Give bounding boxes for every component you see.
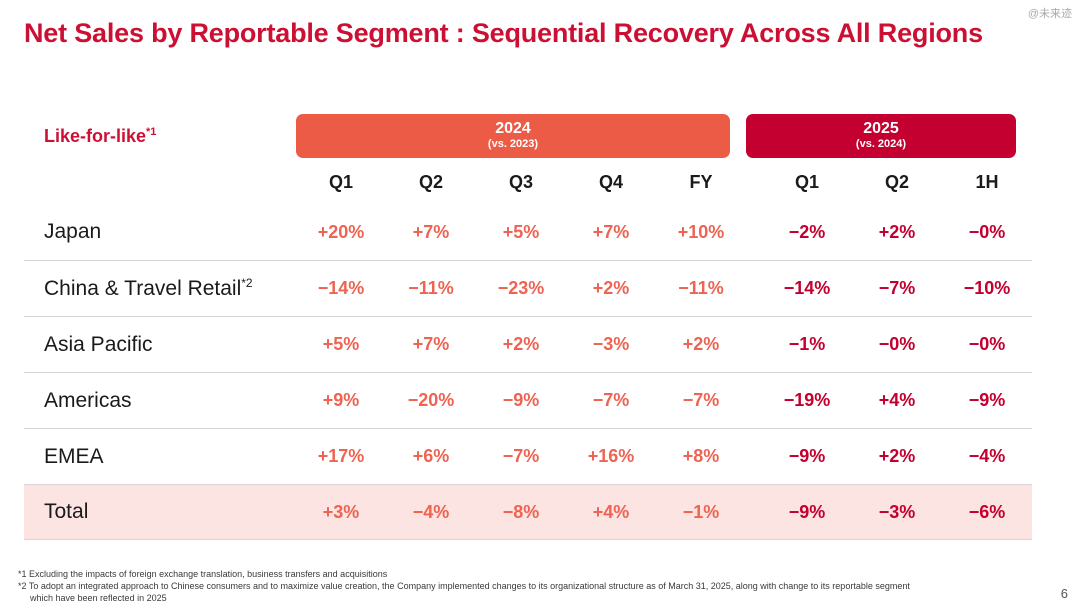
cell-americas-2025-1h: −9% bbox=[942, 390, 1032, 411]
cell-japan-2024-q2: +7% bbox=[386, 222, 476, 243]
cell-americas-2024-q4: −7% bbox=[566, 390, 656, 411]
page-number: 6 bbox=[1061, 586, 1068, 601]
cell-total-2025-q2: −3% bbox=[852, 502, 942, 523]
table-row: China & Travel Retail*2 −14% −11% −23% +… bbox=[24, 260, 1032, 316]
cell-emea-2025-q2: +2% bbox=[852, 446, 942, 467]
cell-asiapacific-2024-q4: −3% bbox=[566, 334, 656, 355]
cell-total-2024-q4: +4% bbox=[566, 502, 656, 523]
column-header-2024-fy: FY bbox=[656, 172, 746, 193]
year-banner-2024-year: 2024 bbox=[495, 121, 531, 138]
row-label-footnote-marker: *2 bbox=[241, 276, 252, 290]
table-row: Americas +9% −20% −9% −7% −7% −19% +4% −… bbox=[24, 372, 1032, 428]
cell-asiapacific-2024-fy: +2% bbox=[656, 334, 746, 355]
cell-total-2024-fy: −1% bbox=[656, 502, 746, 523]
table-banner-row: Like-for-like*1 2024 (vs. 2023) 2025 (vs… bbox=[24, 112, 1032, 160]
page-title: Net Sales by Reportable Segment : Sequen… bbox=[24, 18, 983, 49]
column-header-2024-q3: Q3 bbox=[476, 172, 566, 193]
year-banner-2024: 2024 (vs. 2023) bbox=[296, 114, 730, 158]
column-header-2024-q1: Q1 bbox=[296, 172, 386, 193]
cell-emea-2024-q1: +17% bbox=[296, 446, 386, 467]
cell-americas-2024-q1: +9% bbox=[296, 390, 386, 411]
cell-emea-2025-1h: −4% bbox=[942, 446, 1032, 467]
column-header-2024-q2: Q2 bbox=[386, 172, 476, 193]
cell-china-2025-q1: −14% bbox=[762, 278, 852, 299]
cell-china-2024-q4: +2% bbox=[566, 278, 656, 299]
row-label-text: Asia Pacific bbox=[44, 333, 153, 356]
cell-americas-2025-q1: −19% bbox=[762, 390, 852, 411]
row-label-cell: EMEA bbox=[24, 445, 296, 469]
like-for-like-text: Like-for-like bbox=[44, 126, 146, 146]
cell-asiapacific-2025-1h: −0% bbox=[942, 334, 1032, 355]
row-label-japan: Japan bbox=[44, 220, 101, 243]
cell-china-2024-q2: −11% bbox=[386, 278, 476, 299]
cell-total-2024-q3: −8% bbox=[476, 502, 566, 523]
cell-total-2024-q1: +3% bbox=[296, 502, 386, 523]
year-banner-2025-subtitle: (vs. 2024) bbox=[856, 139, 906, 151]
table-row: Japan +20% +7% +5% +7% +10% −2% +2% −0% bbox=[24, 204, 1032, 260]
row-label-americas: Americas bbox=[44, 389, 132, 412]
column-header-2025-1h: 1H bbox=[942, 172, 1032, 193]
column-header-2025-q2: Q2 bbox=[852, 172, 942, 193]
year-banner-2025-year: 2025 bbox=[863, 121, 899, 138]
row-label-text: EMEA bbox=[44, 445, 104, 468]
row-label-text: Japan bbox=[44, 220, 101, 243]
cell-china-2025-q2: −7% bbox=[852, 278, 942, 299]
table-row-total: Total +3% −4% −8% +4% −1% −9% −3% −6% bbox=[24, 484, 1032, 540]
cell-asiapacific-2024-q2: +7% bbox=[386, 334, 476, 355]
cell-china-2025-1h: −10% bbox=[942, 278, 1032, 299]
cell-americas-2024-q2: −20% bbox=[386, 390, 476, 411]
row-label-cell: Asia Pacific bbox=[24, 333, 296, 357]
cell-total-2025-1h: −6% bbox=[942, 502, 1032, 523]
cell-japan-2024-q4: +7% bbox=[566, 222, 656, 243]
like-for-like-label: Like-for-like*1 bbox=[44, 126, 156, 146]
footnote-1: *1 Excluding the impacts of foreign exch… bbox=[18, 568, 1038, 580]
row-label-cell: Total bbox=[24, 500, 296, 524]
cell-emea-2025-q1: −9% bbox=[762, 446, 852, 467]
cell-emea-2024-q2: +6% bbox=[386, 446, 476, 467]
cell-japan-2024-q1: +20% bbox=[296, 222, 386, 243]
cell-americas-2024-fy: −7% bbox=[656, 390, 746, 411]
cell-total-2024-q2: −4% bbox=[386, 502, 476, 523]
row-label-text: China & Travel Retail bbox=[44, 277, 241, 300]
row-label-cell: China & Travel Retail*2 bbox=[24, 277, 296, 301]
row-label-asia-pacific: Asia Pacific bbox=[44, 333, 153, 356]
table-column-header-row: Q1 Q2 Q3 Q4 FY Q1 Q2 1H bbox=[24, 160, 1032, 204]
footnote-2-line-2: which have been reflected in 2025 bbox=[18, 592, 1038, 604]
like-for-like-footnote-marker: *1 bbox=[146, 126, 156, 138]
row-label-total: Total bbox=[44, 500, 88, 523]
row-label-emea: EMEA bbox=[44, 445, 104, 468]
cell-emea-2024-q3: −7% bbox=[476, 446, 566, 467]
cell-emea-2024-q4: +16% bbox=[566, 446, 656, 467]
cell-japan-2025-q2: +2% bbox=[852, 222, 942, 243]
cell-asiapacific-2025-q2: −0% bbox=[852, 334, 942, 355]
cell-japan-2024-fy: +10% bbox=[656, 222, 746, 243]
footnote-2-line-1: *2 To adopt an integrated approach to Ch… bbox=[18, 580, 1038, 592]
cell-americas-2025-q2: +4% bbox=[852, 390, 942, 411]
row-label-text: Total bbox=[44, 500, 88, 523]
table-row: EMEA +17% +6% −7% +16% +8% −9% +2% −4% bbox=[24, 428, 1032, 484]
cell-japan-2024-q3: +5% bbox=[476, 222, 566, 243]
column-header-2025-q1: Q1 bbox=[762, 172, 852, 193]
cell-americas-2024-q3: −9% bbox=[476, 390, 566, 411]
cell-total-2025-q1: −9% bbox=[762, 502, 852, 523]
row-label-cell: Japan bbox=[24, 220, 296, 244]
cell-asiapacific-2024-q3: +2% bbox=[476, 334, 566, 355]
watermark: @未来迹 bbox=[1028, 5, 1072, 21]
segment-table: Like-for-like*1 2024 (vs. 2023) 2025 (vs… bbox=[24, 112, 1032, 540]
row-label-cell: Americas bbox=[24, 389, 296, 413]
column-header-2024-q4: Q4 bbox=[566, 172, 656, 193]
row-label-china-travel-retail: China & Travel Retail*2 bbox=[44, 277, 253, 300]
footnotes: *1 Excluding the impacts of foreign exch… bbox=[18, 568, 1038, 604]
cell-emea-2024-fy: +8% bbox=[656, 446, 746, 467]
table-row: Asia Pacific +5% +7% +2% −3% +2% −1% −0%… bbox=[24, 316, 1032, 372]
year-banner-2024-subtitle: (vs. 2023) bbox=[488, 139, 538, 151]
cell-asiapacific-2025-q1: −1% bbox=[762, 334, 852, 355]
row-label-text: Americas bbox=[44, 389, 132, 412]
cell-asiapacific-2024-q1: +5% bbox=[296, 334, 386, 355]
cell-china-2024-q1: −14% bbox=[296, 278, 386, 299]
year-banner-2025: 2025 (vs. 2024) bbox=[746, 114, 1016, 158]
cell-japan-2025-q1: −2% bbox=[762, 222, 852, 243]
cell-japan-2025-1h: −0% bbox=[942, 222, 1032, 243]
cell-china-2024-fy: −11% bbox=[656, 278, 746, 299]
corner-label-cell: Like-for-like*1 bbox=[24, 126, 296, 147]
cell-china-2024-q3: −23% bbox=[476, 278, 566, 299]
